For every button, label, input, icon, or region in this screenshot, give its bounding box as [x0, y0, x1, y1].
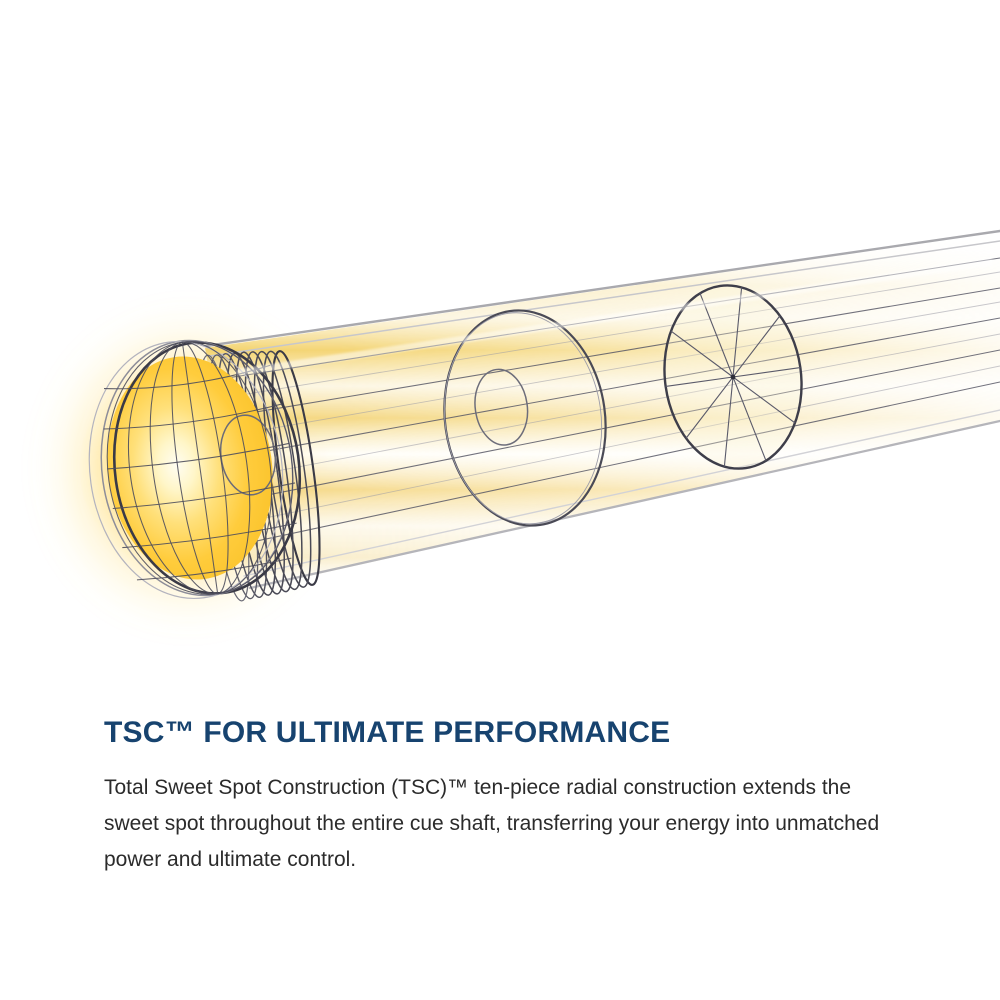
feature-heading: TSC™ FOR ULTIMATE PERFORMANCE [104, 714, 924, 752]
caption-block: TSC™ FOR ULTIMATE PERFORMANCE Total Swee… [104, 714, 924, 878]
cue-shaft-illustration [0, 0, 1000, 690]
feature-description: Total Sweet Spot Construction (TSC)™ ten… [104, 770, 904, 878]
page-root: TSC™ FOR ULTIMATE PERFORMANCE Total Swee… [0, 0, 1000, 1000]
cue-shaft-svg [0, 0, 1000, 690]
shaft-body [205, 231, 1000, 590]
